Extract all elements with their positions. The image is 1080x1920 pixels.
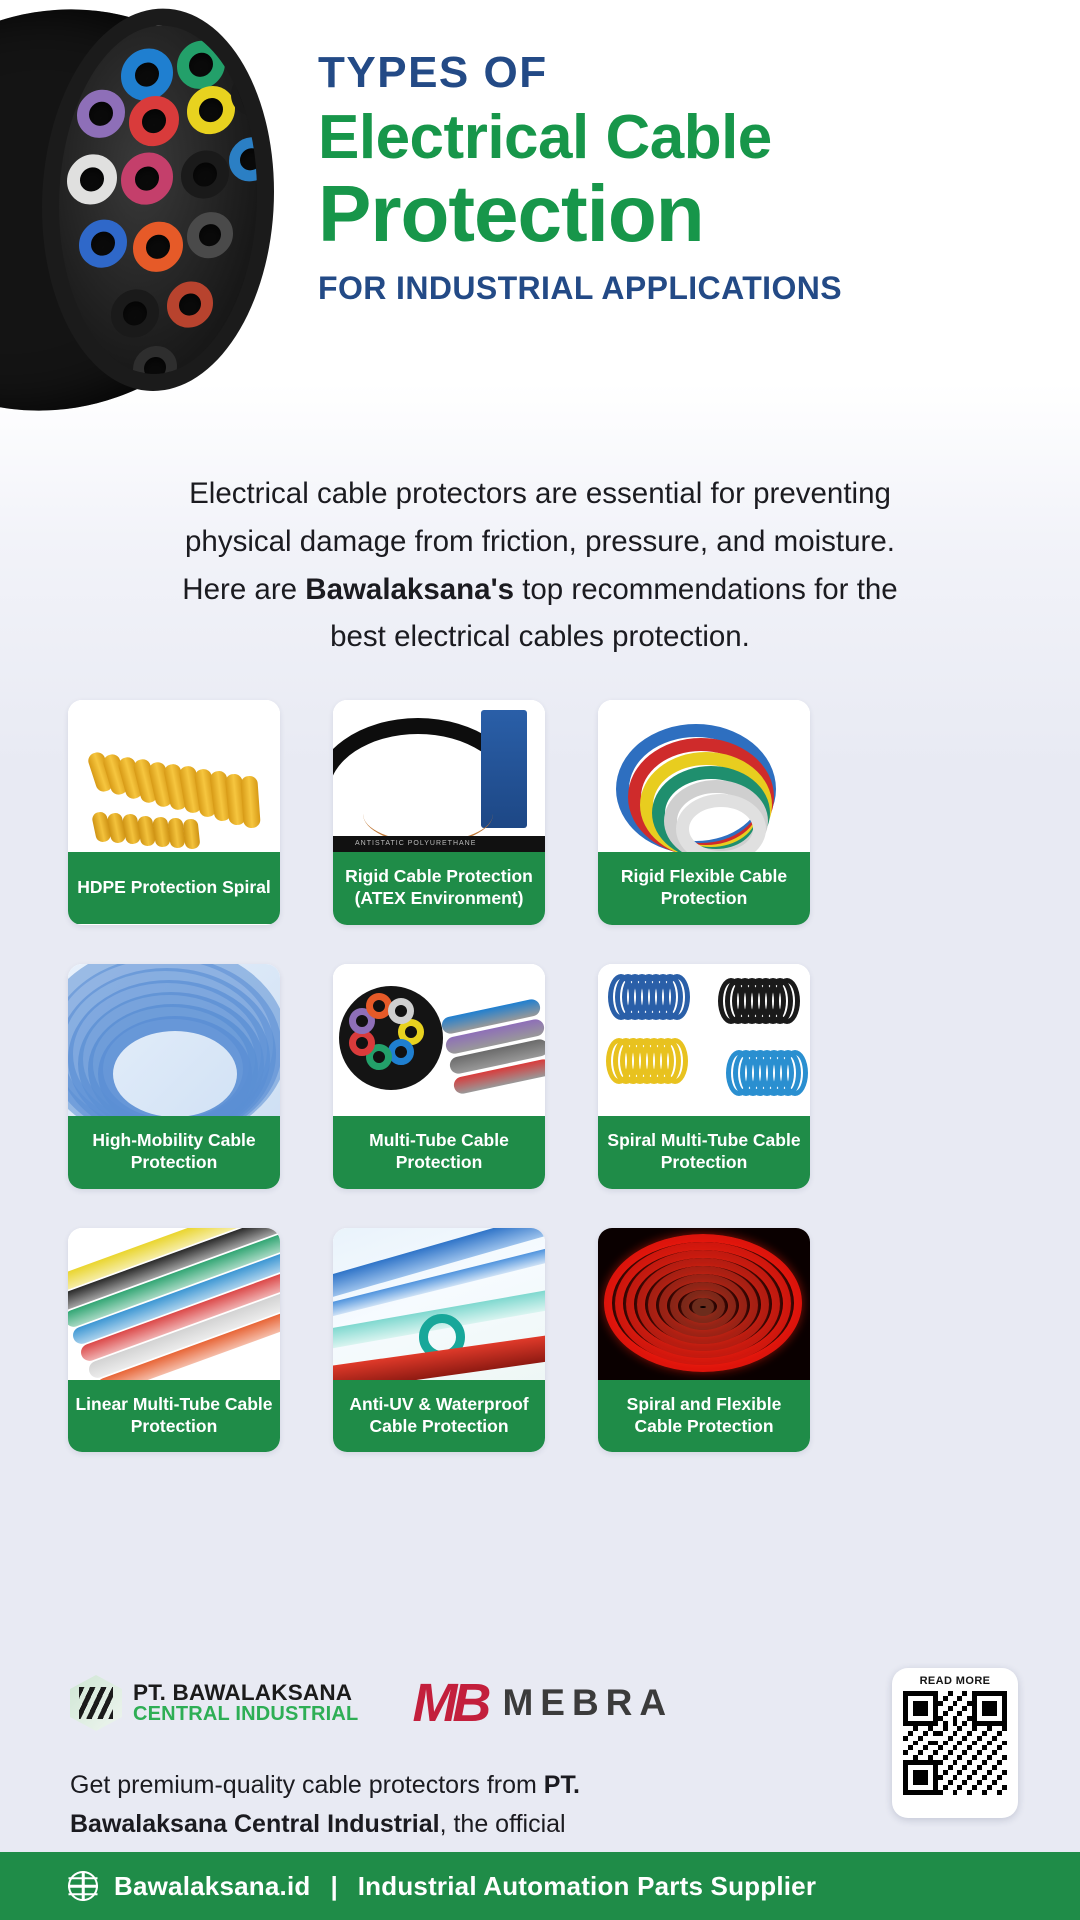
bottom-bar: Bawalaksana.id | Industrial Automation P… <box>0 1852 1080 1920</box>
product-card-label: Spiral Multi-Tube Cable Protection <box>598 1116 810 1189</box>
cable-tube <box>67 153 117 206</box>
product-card[interactable]: Rigid Flexible Cable Protection <box>598 700 810 925</box>
bawalaksana-logo-line1: PT. BAWALAKSANA <box>133 1681 358 1704</box>
cable-tube <box>133 220 183 273</box>
product-card-label: Spiral and Flexible Cable Protection <box>598 1380 810 1453</box>
bottom-bar-site[interactable]: Bawalaksana.id <box>114 1871 310 1902</box>
product-card[interactable]: ANTISTATIC POLYURETHANERigid Cable Prote… <box>333 700 545 925</box>
product-card[interactable]: Multi-Tube Cable Protection <box>333 964 545 1189</box>
footer-cta-a: Get premium-quality cable protectors fro… <box>70 1771 544 1799</box>
header-title-line2: Protection <box>318 172 1058 256</box>
product-card-label: Rigid Cable Protection (ATEX Environment… <box>333 852 545 925</box>
product-card-label: Multi-Tube Cable Protection <box>333 1116 545 1189</box>
cable-tube <box>229 136 273 183</box>
intro-line-1: Electrical cable protectors are essentia… <box>112 470 968 518</box>
cable-tube <box>177 39 225 90</box>
intro-line-3-a: Here are <box>182 573 305 606</box>
mebra-logo: MB MEBRA <box>412 1672 673 1734</box>
cable-tube <box>121 151 173 207</box>
product-card-image <box>333 1228 545 1380</box>
product-card[interactable]: High-Mobility Cable Protection <box>68 964 280 1189</box>
footer-logos: PT. BAWALAKSANA CENTRAL INDUSTRIAL MB ME… <box>70 1672 673 1734</box>
product-card[interactable]: Spiral and Flexible Cable Protection <box>598 1228 810 1453</box>
infographic-page: TYPES OF Electrical Cable Protection FOR… <box>0 0 1080 1920</box>
red-spiral-ring <box>692 1298 714 1316</box>
product-card-image: ANTISTATIC POLYURETHANE <box>333 700 545 852</box>
mebra-wordmark: MEBRA <box>502 1682 673 1724</box>
inner-tube <box>349 1030 375 1056</box>
cable-tube <box>133 344 177 391</box>
product-card-image <box>598 1228 810 1380</box>
bawalaksana-hex-icon <box>70 1675 122 1731</box>
bawalaksana-logo-line2: CENTRAL INDUSTRIAL <box>133 1704 358 1725</box>
header-kicker: TYPES OF <box>318 48 1058 99</box>
product-card-image <box>333 964 545 1116</box>
product-card[interactable]: Linear Multi-Tube Cable Protection <box>68 1228 280 1453</box>
cable-tube <box>187 211 233 260</box>
intro-line-3: Here are Bawalaksana's top recommendatio… <box>112 566 968 614</box>
globe-icon <box>68 1871 98 1901</box>
cable-tube <box>129 94 179 147</box>
intro-line-3-c: top recommendations for the <box>514 573 898 606</box>
spiral-tube-loop <box>662 1038 688 1084</box>
product-card-image <box>68 1228 280 1380</box>
cable-tube <box>231 70 274 117</box>
spiral-tube-loop <box>782 1050 808 1096</box>
cards-grid: HDPE Protection SpiralANTISTATIC POLYURE… <box>68 700 1012 1452</box>
header-text-block: TYPES OF Electrical Cable Protection FOR… <box>318 48 1058 307</box>
product-card-image <box>598 964 810 1116</box>
product-card-image <box>598 700 810 852</box>
intro-brand-name: Bawalaksana's <box>305 573 514 606</box>
header-subkicker: FOR INDUSTRIAL APPLICATIONS <box>318 270 1058 307</box>
product-card-label: Rigid Flexible Cable Protection <box>598 852 810 925</box>
cable-tube <box>187 84 235 135</box>
header: TYPES OF Electrical Cable Protection FOR… <box>0 0 1080 460</box>
cable-tube <box>181 149 229 200</box>
qr-read-more-label: READ MORE <box>920 1675 991 1687</box>
product-card-image <box>68 964 280 1116</box>
bottom-bar-separator: | <box>326 1871 341 1902</box>
cable-tube <box>167 280 213 329</box>
intro-paragraph: Electrical cable protectors are essentia… <box>0 470 1080 661</box>
qr-read-more-card[interactable]: READ MORE <box>892 1668 1018 1818</box>
product-card-label: HDPE Protection Spiral <box>68 852 280 924</box>
label-strip: ANTISTATIC POLYURETHANE <box>333 836 545 852</box>
cable-tube <box>79 218 127 269</box>
bawalaksana-logo: PT. BAWALAKSANA CENTRAL INDUSTRIAL <box>70 1675 358 1731</box>
cable-tube <box>111 288 159 339</box>
spiral-tube-loop <box>664 974 690 1020</box>
hero-cable-bundle-image <box>0 0 350 420</box>
product-card-label: High-Mobility Cable Protection <box>68 1116 280 1189</box>
product-card-image <box>68 700 280 852</box>
header-title-line1: Electrical Cable <box>318 103 1058 172</box>
spiral-tube-loop <box>774 978 800 1024</box>
bottom-bar-tagline: Industrial Automation Parts Supplier <box>358 1871 816 1902</box>
product-card[interactable]: Anti-UV & Waterproof Cable Protection <box>333 1228 545 1453</box>
copper-wire <box>363 784 493 844</box>
product-card[interactable]: Spiral Multi-Tube Cable Protection <box>598 964 810 1189</box>
spiral-coil <box>182 818 200 849</box>
spiral-coil <box>240 775 261 828</box>
cable-tube <box>77 88 125 139</box>
cable-tube <box>121 47 173 103</box>
intro-line-2: physical damage from friction, pressure,… <box>112 518 968 566</box>
product-card-label: Anti-UV & Waterproof Cable Protection <box>333 1380 545 1453</box>
product-card-label: Linear Multi-Tube Cable Protection <box>68 1380 280 1453</box>
intro-line-4: best electrical cables protection. <box>112 613 968 661</box>
mebra-monogram-icon: MB <box>412 1672 486 1734</box>
qr-code-image[interactable] <box>903 1691 1007 1795</box>
product-card[interactable]: HDPE Protection Spiral <box>68 700 280 925</box>
